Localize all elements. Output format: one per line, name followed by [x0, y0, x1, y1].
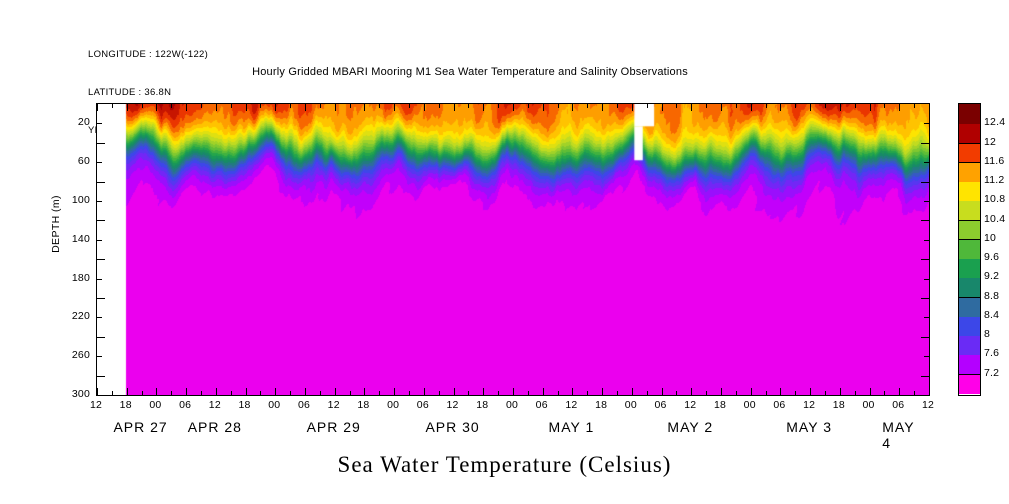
axis-tick: [543, 104, 544, 111]
axis-tick: [825, 104, 826, 108]
colorbar-swatch: [959, 258, 980, 278]
hour-tick-label: 00: [863, 399, 875, 411]
axis-tick: [409, 391, 410, 395]
axis-tick: [97, 201, 102, 202]
axis-tick: [364, 388, 365, 395]
axis-tick: [513, 104, 514, 111]
hour-tick-label: 12: [684, 399, 696, 411]
axis-tick: [587, 391, 588, 395]
axis-tick: [409, 104, 410, 108]
colorbar-swatch: [959, 220, 980, 240]
axis-tick: [97, 356, 102, 357]
colorbar-swatch: [959, 162, 980, 182]
depth-axis-title: DEPTH (m): [50, 164, 62, 284]
hour-tick-label: 18: [120, 399, 132, 411]
axis-tick: [468, 391, 469, 395]
axis-tick: [156, 388, 157, 395]
colorbar-labels: 7.27.688.48.89.29.61010.410.811.211.6121…: [984, 103, 1009, 396]
axis-tick: [855, 391, 856, 395]
axis-tick: [394, 104, 395, 111]
axis-tick: [424, 388, 425, 395]
axis-tick: [112, 104, 113, 108]
axis-tick: [924, 201, 929, 202]
hour-tick-label: 06: [179, 399, 191, 411]
axis-tick: [394, 388, 395, 395]
colorbar-swatch: [959, 354, 980, 374]
axis-tick: [335, 388, 336, 395]
axis-tick: [921, 376, 929, 377]
axis-tick: [513, 388, 514, 395]
axis-tick: [795, 104, 796, 108]
axis-tick: [335, 104, 336, 111]
hour-tick-label: 18: [833, 399, 845, 411]
axis-tick: [231, 391, 232, 395]
axis-tick: [558, 104, 559, 108]
axis-tick: [921, 337, 929, 338]
colorbar-tick-label: 10: [984, 232, 996, 244]
axis-tick: [921, 259, 929, 260]
day-label: APR 27: [113, 419, 167, 435]
axis-tick: [543, 388, 544, 395]
axis-tick: [706, 391, 707, 395]
axis-tick: [810, 388, 811, 395]
axis-tick: [587, 104, 588, 108]
colorbar-tick-label: 10.8: [984, 193, 1005, 205]
hour-tick-label: 00: [387, 399, 399, 411]
depth-tick-label: 20: [50, 116, 90, 128]
axis-tick: [97, 182, 105, 183]
colorbar-swatch: [959, 335, 980, 355]
axis-tick: [379, 104, 380, 108]
axis-tick: [97, 376, 105, 377]
colorbar-tick-label: 12: [984, 136, 996, 148]
day-label: APR 29: [307, 419, 361, 435]
axis-tick: [572, 104, 573, 111]
axis-tick: [780, 388, 781, 395]
axis-tick: [924, 162, 929, 163]
axis-tick: [171, 391, 172, 395]
axis-tick: [572, 388, 573, 395]
axis-tick: [350, 391, 351, 395]
axis-tick: [617, 104, 618, 108]
axis-tick: [201, 391, 202, 395]
colorbar-tick-label: 7.2: [984, 367, 999, 379]
axis-tick: [275, 388, 276, 395]
hour-tick-label: 18: [476, 399, 488, 411]
axis-tick: [528, 104, 529, 108]
axis-tick: [186, 104, 187, 111]
longitude-text: LONGITUDE : 122W(-122): [88, 49, 208, 62]
axis-tick: [929, 388, 930, 395]
axis-tick: [884, 104, 885, 108]
axis-tick: [921, 143, 929, 144]
axis-tick: [914, 391, 915, 395]
axis-tick: [97, 220, 105, 221]
axis-tick: [810, 104, 811, 111]
axis-tick: [929, 104, 930, 111]
axis-tick: [379, 391, 380, 395]
axis-tick: [275, 104, 276, 111]
plot-area: [96, 103, 930, 396]
axis-tick: [97, 123, 102, 124]
axis-tick: [171, 104, 172, 108]
axis-tick: [924, 317, 929, 318]
colorbar: [958, 103, 981, 396]
axis-tick: [439, 104, 440, 108]
hour-tick-label: 12: [922, 399, 934, 411]
axis-tick: [921, 220, 929, 221]
hour-tick-label: 06: [417, 399, 429, 411]
latitude-text: LATITUDE : 36.8N: [88, 87, 208, 100]
hour-tick-label: 06: [536, 399, 548, 411]
day-label: APR 28: [188, 419, 242, 435]
axis-tick: [558, 391, 559, 395]
axis-tick: [127, 104, 128, 111]
axis-tick: [632, 104, 633, 111]
temperature-contour-field: [97, 104, 929, 395]
axis-tick: [825, 391, 826, 395]
day-axis-labels: APR 27APR 28APR 29APR 30MAY 1MAY 2MAY 3M…: [96, 419, 930, 441]
depth-tick-label: 300: [50, 388, 90, 400]
hour-tick-label: 06: [655, 399, 667, 411]
day-label: APR 30: [425, 419, 479, 435]
colorbar-swatch: [959, 277, 980, 297]
colorbar-tick-label: 8: [984, 328, 990, 340]
axis-tick: [706, 104, 707, 108]
hour-tick-label: 12: [565, 399, 577, 411]
axis-tick: [632, 388, 633, 395]
colorbar-swatch: [959, 143, 980, 163]
depth-tick-label: 260: [50, 349, 90, 361]
axis-tick: [142, 104, 143, 108]
hour-tick-label: 12: [328, 399, 340, 411]
axis-tick: [439, 391, 440, 395]
axis-tick: [260, 104, 261, 108]
axis-tick: [216, 104, 217, 111]
colorbar-tick-label: 7.6: [984, 347, 999, 359]
axis-tick: [364, 104, 365, 111]
axis-tick: [691, 388, 692, 395]
axis-tick: [290, 391, 291, 395]
axis-tick: [201, 104, 202, 108]
colorbar-swatch: [959, 123, 980, 143]
axis-tick: [305, 388, 306, 395]
hour-tick-label: 12: [209, 399, 221, 411]
axis-tick: [676, 104, 677, 108]
axis-tick: [921, 298, 929, 299]
axis-tick: [924, 123, 929, 124]
axis-tick: [483, 104, 484, 111]
axis-tick: [498, 391, 499, 395]
axis-tick: [736, 391, 737, 395]
axis-tick: [246, 388, 247, 395]
axis-tick: [454, 388, 455, 395]
axis-tick: [870, 388, 871, 395]
colorbar-swatch: [959, 297, 980, 317]
chart-title: Hourly Gridded MBARI Mooring M1 Sea Wate…: [0, 66, 940, 78]
colorbar-swatch: [959, 239, 980, 259]
colorbar-tick-label: 12.4: [984, 116, 1005, 128]
axis-tick: [483, 388, 484, 395]
axis-tick: [676, 391, 677, 395]
hour-tick-label: 12: [90, 399, 102, 411]
axis-tick: [97, 104, 98, 111]
axis-tick: [97, 162, 102, 163]
axis-tick: [97, 240, 102, 241]
axis-tick: [691, 104, 692, 111]
axis-tick: [840, 104, 841, 111]
axis-tick: [884, 391, 885, 395]
colorbar-tick-label: 9.2: [984, 270, 999, 282]
colorbar-tick-label: 8.4: [984, 309, 999, 321]
day-label: MAY 3: [786, 419, 832, 435]
hour-tick-label: 18: [239, 399, 251, 411]
hour-tick-label: 12: [803, 399, 815, 411]
axis-tick: [156, 104, 157, 111]
hour-tick-label: 06: [892, 399, 904, 411]
axis-tick: [662, 104, 663, 111]
axis-tick: [528, 391, 529, 395]
axis-tick: [97, 388, 98, 395]
axis-tick: [602, 104, 603, 111]
axis-tick: [454, 104, 455, 111]
hour-tick-label: 18: [595, 399, 607, 411]
hour-tick-label: 00: [149, 399, 161, 411]
axis-tick: [780, 104, 781, 111]
colorbar-tick-label: 11.6: [984, 155, 1004, 167]
axis-tick: [305, 104, 306, 111]
axis-tick: [855, 104, 856, 108]
axis-tick: [97, 337, 105, 338]
colorbar-tick-label: 9.6: [984, 251, 999, 263]
axis-tick: [127, 388, 128, 395]
axis-tick: [899, 104, 900, 111]
axis-tick: [97, 259, 105, 260]
day-label: MAY 1: [549, 419, 595, 435]
hour-tick-label: 18: [714, 399, 726, 411]
hour-tick-label: 00: [506, 399, 518, 411]
colorbar-title: Sea Water Temperature (Celsius): [0, 452, 1009, 478]
axis-tick: [751, 388, 752, 395]
axis-tick: [97, 279, 102, 280]
axis-tick: [231, 104, 232, 108]
axis-tick: [899, 388, 900, 395]
colorbar-tick-label: 10.4: [984, 213, 1005, 225]
axis-tick: [766, 104, 767, 108]
colorbar-swatch: [959, 181, 980, 201]
hour-tick-label: 00: [744, 399, 756, 411]
colorbar-swatch: [959, 104, 980, 124]
colorbar-swatch: [959, 316, 980, 336]
axis-tick: [795, 391, 796, 395]
colorbar-tick-label: 11.2: [984, 174, 1004, 186]
axis-tick: [721, 388, 722, 395]
axis-tick: [924, 356, 929, 357]
hour-tick-label: 12: [447, 399, 459, 411]
axis-tick: [468, 104, 469, 108]
axis-tick: [647, 391, 648, 395]
hour-tick-label: 00: [625, 399, 637, 411]
axis-tick: [921, 182, 929, 183]
axis-tick: [320, 391, 321, 395]
axis-tick: [97, 143, 105, 144]
axis-tick: [647, 104, 648, 108]
hour-axis-labels: 1218000612180006121800061218000612180006…: [96, 399, 930, 415]
axis-tick: [498, 104, 499, 108]
hour-tick-label: 18: [357, 399, 369, 411]
axis-tick: [840, 388, 841, 395]
axis-tick: [350, 104, 351, 108]
axis-tick: [662, 388, 663, 395]
axis-tick: [736, 104, 737, 108]
depth-tick-label: 220: [50, 310, 90, 322]
axis-tick: [216, 388, 217, 395]
axis-tick: [424, 104, 425, 111]
hour-tick-label: 06: [298, 399, 310, 411]
axis-tick: [186, 388, 187, 395]
axis-tick: [142, 391, 143, 395]
colorbar-swatch: [959, 374, 980, 394]
day-label: MAY 4: [882, 419, 914, 451]
axis-tick: [924, 240, 929, 241]
axis-tick: [870, 104, 871, 111]
axis-tick: [617, 391, 618, 395]
axis-tick: [751, 104, 752, 111]
hour-tick-label: 00: [268, 399, 280, 411]
hour-tick-label: 06: [773, 399, 785, 411]
axis-tick: [320, 104, 321, 108]
axis-tick: [246, 104, 247, 111]
axis-tick: [260, 391, 261, 395]
axis-tick: [914, 104, 915, 108]
axis-tick: [97, 298, 105, 299]
axis-tick: [112, 391, 113, 395]
axis-tick: [602, 388, 603, 395]
axis-tick: [721, 104, 722, 111]
axis-tick: [290, 104, 291, 108]
axis-tick: [766, 391, 767, 395]
day-label: MAY 2: [667, 419, 713, 435]
axis-tick: [924, 279, 929, 280]
axis-tick: [97, 317, 102, 318]
colorbar-tick-label: 8.8: [984, 290, 999, 302]
colorbar-swatch: [959, 200, 980, 220]
